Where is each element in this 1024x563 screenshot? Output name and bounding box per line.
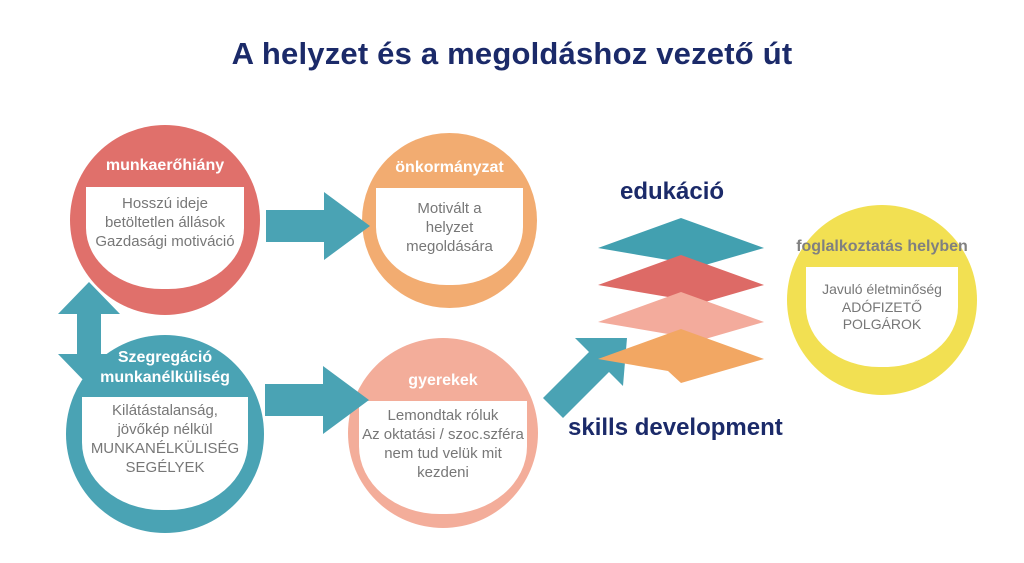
label-skills-development: skills development (568, 414, 783, 442)
node-body-line: kezdeni (362, 464, 524, 483)
diagram-canvas: A helyzet és a megoldáshoz vezető út mun… (0, 0, 1024, 563)
diamond-layer-4 (598, 329, 764, 383)
node-body-line: SEGÉLYEK (91, 459, 239, 478)
node-body-line: MUNKANÉLKÜLISÉG (91, 440, 239, 459)
page-title: A helyzet és a megoldáshoz vezető út (0, 36, 1024, 72)
node-body-line: jövőkép nélkül (91, 421, 239, 440)
node-body-text-onkormanyzat: Motivált a helyzet megoldására (406, 188, 493, 257)
node-body-line: Hosszú ideje (95, 195, 234, 214)
node-body-line: Lemondtak róluk (362, 407, 524, 426)
node-body-line: POLGÁROK (822, 316, 942, 334)
label-edukacio: edukáció (620, 178, 724, 206)
node-body-line: ADÓFIZETŐ (822, 299, 942, 317)
node-body-line: Javuló életminőség (822, 281, 942, 299)
node-gyerekek[interactable]: gyerekek Lemondtak róluk Az oktatási / s… (348, 338, 538, 528)
arrow-right-icon (266, 190, 370, 262)
node-body-line: Gazdasági motiváció (95, 233, 234, 252)
node-body-line: Motivált a (406, 200, 493, 219)
node-heading-foglalkoztatas: foglalkoztatás helyben (760, 238, 1003, 256)
node-body-line: megoldására (406, 238, 493, 257)
node-body-text-szegregacio: Kilátástalanság, jövőkép nélkül MUNKANÉL… (91, 397, 239, 478)
arrow-up-down-icon (56, 282, 122, 386)
node-foglalkoztatas-helyben[interactable]: foglalkoztatás helyben Javuló életminősé… (787, 205, 977, 395)
node-body-line: nem tud velük mit (362, 445, 524, 464)
arrow-right-icon (265, 364, 369, 436)
node-body-text-munkaerohiany: Hosszú ideje betöltetlen állások Gazdasá… (95, 187, 234, 252)
node-body-line: helyzet (406, 219, 493, 238)
node-onkormanyzat[interactable]: önkormányzat Motivált a helyzet megoldás… (362, 133, 537, 308)
node-heading-onkormanyzat: önkormányzat (341, 159, 558, 177)
node-body-line: Kilátástalanság, (91, 402, 239, 421)
layered-diamond-stack (598, 218, 764, 380)
node-body-line: Az oktatási / szoc.szféra (362, 426, 524, 445)
node-body-line: betöltetlen állások (95, 214, 234, 233)
node-heading-munkaerohiany: munkaerőhiány (47, 157, 283, 175)
node-body-text-foglalkoztatas: Javuló életminőség ADÓFIZETŐ POLGÁROK (822, 267, 942, 334)
node-body-text-gyerekek: Lemondtak róluk Az oktatási / szoc.szfér… (362, 401, 524, 483)
